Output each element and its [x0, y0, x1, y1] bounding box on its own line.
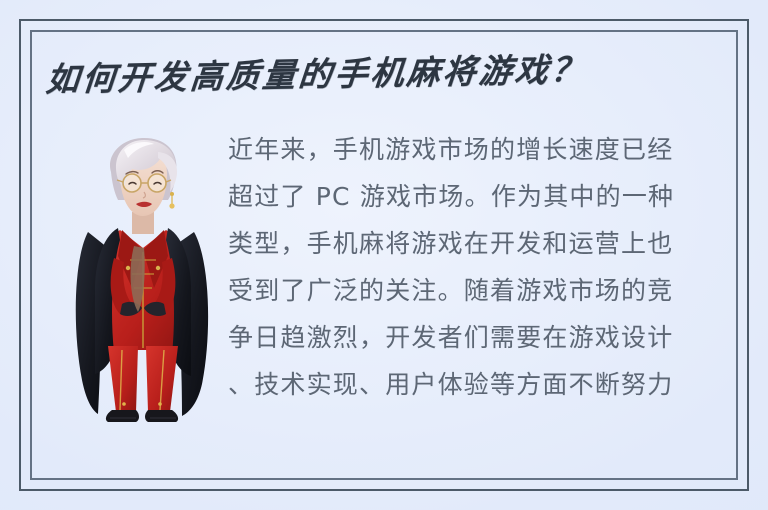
- body-line: 超过了 PC 游戏市场。作为其中的一种: [228, 173, 738, 220]
- body-line: 受到了广泛的关注。随着游戏市场的竞: [228, 267, 738, 314]
- body-line: 类型，手机麻将游戏在开发和运营上也: [228, 220, 738, 267]
- body-line: 近年来，手机游戏市场的增长速度已经: [228, 126, 738, 173]
- body-line: 争日趋激烈，开发者们需要在游戏设计: [228, 314, 738, 361]
- body-paragraph: 近年来，手机游戏市场的增长速度已经 超过了 PC 游戏市场。作为其中的一种 类型…: [228, 126, 738, 408]
- page-title: 如何开发高质量的手机麻将游戏？: [44, 45, 719, 102]
- poster-canvas: 如何开发高质量的手机麻将游戏？ 近年来，手机游戏市场的增长速度已经 超过了 PC…: [0, 0, 768, 510]
- body-line: 、技术实现、用户体验等方面不断努力: [228, 361, 738, 408]
- character-illustration: [62, 128, 222, 424]
